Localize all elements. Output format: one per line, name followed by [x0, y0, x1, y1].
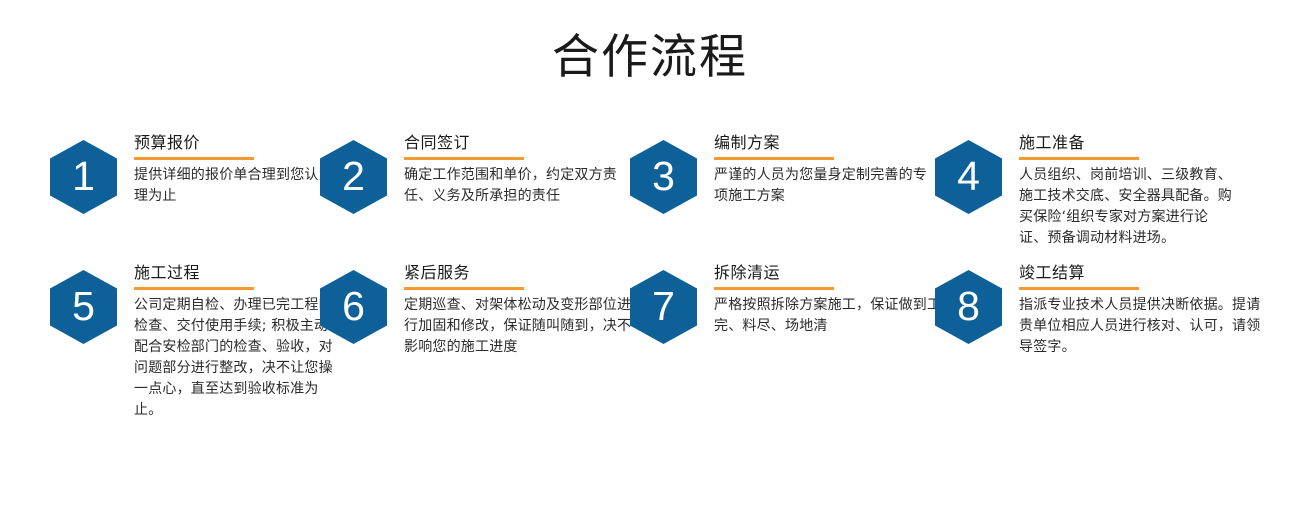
step-title: 拆除清运 [714, 263, 920, 283]
step-body: 合同签订 确定工作范围和单价，约定双方责任、义务及所承担的责任 [387, 133, 615, 207]
step-title: 编制方案 [714, 133, 920, 153]
step-title: 施工准备 [1019, 133, 1300, 153]
step-description: 严谨的人员为您量身定制完善的专项施工方案 [714, 165, 929, 207]
title-underline [404, 157, 524, 160]
step-number-label: 6 [320, 270, 387, 344]
title-underline [1019, 287, 1139, 290]
step-body: 编制方案 严谨的人员为您量身定制完善的专项施工方案 [697, 133, 920, 207]
step-number-label: 8 [935, 270, 1002, 344]
step-body: 预算报价 提供详细的报价单合理到您认为合理为止 [117, 133, 305, 207]
step-title: 紧后服务 [404, 263, 615, 283]
step-description: 定期巡查、对架体松动及变形部位进行加固和修改，保证随叫随到，决不影响您的施工进度 [404, 295, 639, 358]
process-step-5[interactable]: 5 施工过程 公司定期自检、办理已完工程的检查、交付使用手续; 积极主动配合安检… [0, 263, 305, 421]
step-number-label: 1 [50, 140, 117, 214]
step-description: 严格按照拆除方案施工，保证做到工完、料尽、场地清 [714, 295, 949, 337]
step-number-hexagon: 8 [935, 270, 1002, 344]
title-underline [134, 287, 254, 290]
step-description: 确定工作范围和单价，约定双方责任、义务及所承担的责任 [404, 165, 634, 207]
step-number-label: 5 [50, 270, 117, 344]
process-steps-row-2: 5 施工过程 公司定期自检、办理已完工程的检查、交付使用手续; 积极主动配合安检… [0, 263, 1300, 421]
process-step-7[interactable]: 7 拆除清运 严格按照拆除方案施工，保证做到工完、料尽、场地清 [615, 263, 920, 421]
process-steps-row-1: 1 预算报价 提供详细的报价单合理到您认为合理为止 2 合同签订 确定工作范围和… [0, 133, 1300, 249]
step-number-hexagon: 6 [320, 270, 387, 344]
page-title: 合作流程 [0, 0, 1300, 86]
cooperation-process-infographic: { "header": { "title": "合作流程" }, "theme"… [0, 0, 1300, 532]
row-spacer [0, 249, 1300, 263]
title-underline [1019, 157, 1139, 160]
step-description: 公司定期自检、办理已完工程的检查、交付使用手续; 积极主动配合安检部门的检查、验… [134, 295, 334, 421]
step-title: 合同签订 [404, 133, 615, 153]
process-step-4[interactable]: 4 施工准备 人员组织、岗前培训、三级教育、施工技术交底、安全器具配备。购买保险… [920, 133, 1300, 249]
step-number-hexagon: 3 [630, 140, 697, 214]
process-steps-grid: 1 预算报价 提供详细的报价单合理到您认为合理为止 2 合同签订 确定工作范围和… [0, 133, 1300, 421]
process-step-3[interactable]: 3 编制方案 严谨的人员为您量身定制完善的专项施工方案 [615, 133, 920, 249]
title-underline [714, 287, 834, 290]
step-number-label: 2 [320, 140, 387, 214]
process-step-1[interactable]: 1 预算报价 提供详细的报价单合理到您认为合理为止 [0, 133, 305, 249]
step-title: 施工过程 [134, 263, 305, 283]
step-body: 紧后服务 定期巡查、对架体松动及变形部位进行加固和修改，保证随叫随到，决不影响您… [387, 263, 615, 358]
step-number-hexagon: 4 [935, 140, 1002, 214]
step-body: 竣工结算 指派专业技术人员提供决断依据。提请贵单位相应人员进行核对、认可，请领导… [1002, 263, 1300, 358]
step-body: 施工准备 人员组织、岗前培训、三级教育、施工技术交底、安全器具配备。购买保险‘组… [1002, 133, 1300, 249]
title-underline [404, 287, 524, 290]
step-title: 竣工结算 [1019, 263, 1300, 283]
step-number-hexagon: 7 [630, 270, 697, 344]
process-step-8[interactable]: 8 竣工结算 指派专业技术人员提供决断依据。提请贵单位相应人员进行核对、认可，请… [920, 263, 1300, 421]
title-underline [134, 157, 254, 160]
process-step-6[interactable]: 6 紧后服务 定期巡查、对架体松动及变形部位进行加固和修改，保证随叫随到，决不影… [305, 263, 615, 421]
step-number-hexagon: 2 [320, 140, 387, 214]
step-body: 施工过程 公司定期自检、办理已完工程的检查、交付使用手续; 积极主动配合安检部门… [117, 263, 305, 421]
step-description: 指派专业技术人员提供决断依据。提请贵单位相应人员进行核对、认可，请领导签字。 [1019, 295, 1264, 358]
step-number-label: 3 [630, 140, 697, 214]
step-body: 拆除清运 严格按照拆除方案施工，保证做到工完、料尽、场地清 [697, 263, 920, 337]
step-title: 预算报价 [134, 133, 305, 153]
process-step-2[interactable]: 2 合同签订 确定工作范围和单价，约定双方责任、义务及所承担的责任 [305, 133, 615, 249]
step-description: 人员组织、岗前培训、三级教育、施工技术交底、安全器具配备。购买保险‘组织专家对方… [1019, 165, 1234, 249]
title-underline [714, 157, 834, 160]
step-number-hexagon: 5 [50, 270, 117, 344]
step-number-label: 4 [935, 140, 1002, 214]
step-number-label: 7 [630, 270, 697, 344]
step-number-hexagon: 1 [50, 140, 117, 214]
